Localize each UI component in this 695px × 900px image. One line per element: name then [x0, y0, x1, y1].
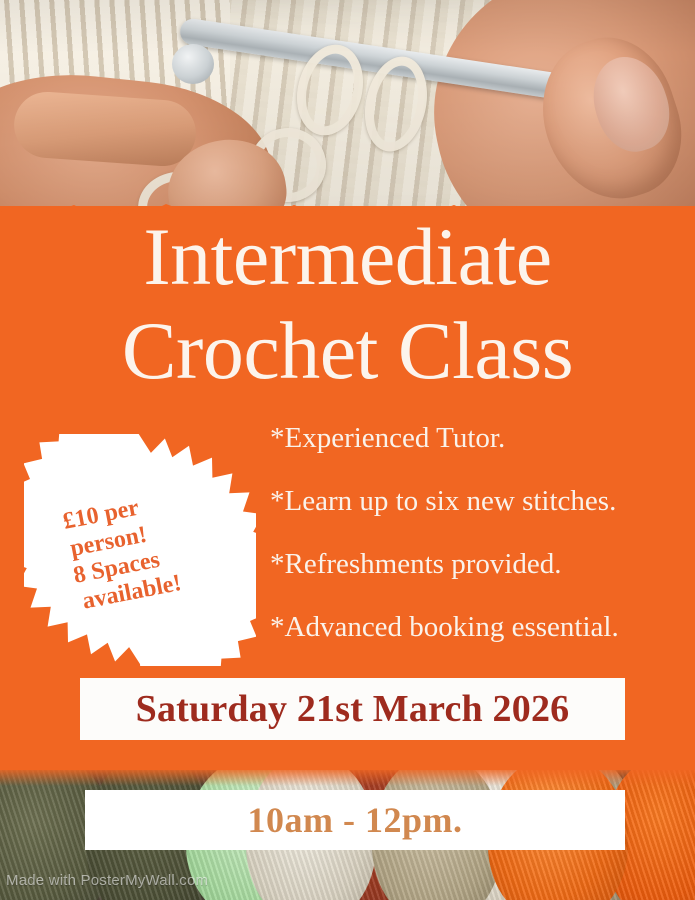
photo-top-fade	[0, 770, 695, 786]
hands-crocheting-photo	[0, 0, 695, 214]
page-title: Intermediate Crochet Class	[0, 216, 695, 392]
list-item: *Learn up to six new stitches.	[270, 487, 680, 516]
list-item: *Refreshments provided.	[270, 550, 680, 579]
watermark: Made with PosterMyWall.com	[6, 872, 208, 889]
photo-shading	[0, 0, 695, 214]
time-banner: 10am - 12pm.	[85, 790, 625, 850]
date-text: Saturday 21st March 2026	[136, 687, 570, 731]
date-banner: Saturday 21st March 2026	[80, 678, 625, 740]
list-item: *Experienced Tutor.	[270, 424, 680, 453]
title-line-1: Intermediate	[0, 216, 695, 298]
list-item: *Advanced booking essential.	[270, 613, 680, 642]
poster-canvas: Intermediate Crochet Class £10 per perso…	[0, 0, 695, 900]
badge-text-block: £10 per person! 8 Spaces available!	[4, 414, 276, 686]
feature-list: *Experienced Tutor. *Learn up to six new…	[270, 424, 680, 676]
price-starburst-badge: £10 per person! 8 Spaces available!	[24, 434, 256, 666]
title-line-2: Crochet Class	[0, 310, 695, 392]
time-text: 10am - 12pm.	[248, 799, 463, 841]
